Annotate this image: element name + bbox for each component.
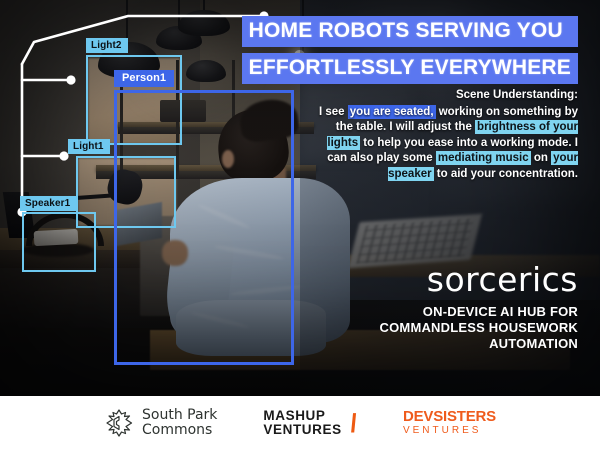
scene-text-seg-4: on [531, 152, 551, 164]
scene-understanding-panel: Scene Understanding: I see you are seate… [310, 88, 578, 182]
brand-name: sorcerics [380, 262, 578, 298]
brand-tagline-line-3: AUTOMATION [380, 336, 578, 352]
mashup-line-1: MASHUP [263, 409, 341, 423]
scene-understanding-title: Scene Understanding: [310, 88, 578, 104]
sponsor-mashup-ventures-name: MASHUP VENTURES [263, 409, 341, 437]
scene-text-seg-5: to aid your concentration. [434, 168, 578, 180]
detection-label-speaker1[interactable]: Speaker1 [20, 196, 76, 211]
devsisters-line-1: DEVSISTERS [403, 409, 496, 425]
sponsor-south-park-commons[interactable]: South Park Commons [104, 408, 217, 438]
brand-block: sorcerics ON-DEVICE AI HUB FOR COMMANDLE… [380, 262, 578, 352]
sponsor-south-park-commons-name: South Park Commons [142, 408, 217, 438]
scene-highlight-seated: you are seated, [348, 105, 436, 119]
scene-text-seg-1: I see [319, 106, 348, 118]
detection-label-light2[interactable]: Light2 [86, 38, 128, 53]
brand-tagline: ON-DEVICE AI HUB FOR COMMANDLESS HOUSEWO… [380, 304, 578, 352]
orange-slash-icon: \ [347, 412, 361, 434]
headline: HOME ROBOTS SERVING YOU EFFORTLESSLY EVE… [242, 16, 578, 84]
headline-line-1: HOME ROBOTS SERVING YOU [242, 16, 578, 47]
detection-label-person1[interactable]: Person1 [114, 70, 174, 87]
sponsor-devsisters-ventures-name: DEVSISTERS VENTURES [403, 409, 496, 437]
mashup-line-2: VENTURES [263, 423, 341, 437]
poster: Light2 Light1 Speaker1 Person1 HOME ROBO… [0, 0, 600, 450]
sponsor-footer: South Park Commons MASHUP VENTURES \ DEV… [0, 396, 600, 450]
spc-line-2: Commons [142, 423, 217, 438]
scene-highlight-music: mediating music [436, 151, 531, 165]
spc-line-1: South Park [142, 408, 217, 423]
headline-line-2: EFFORTLESSLY EVERYWHERE [242, 53, 578, 84]
brand-tagline-line-1: ON-DEVICE AI HUB FOR [380, 304, 578, 320]
detection-label-light1[interactable]: Light1 [68, 139, 110, 154]
graph-node-light2 [66, 75, 75, 84]
brand-tagline-line-2: COMMANDLESS HOUSEWORK [380, 320, 578, 336]
sponsor-mashup-ventures[interactable]: MASHUP VENTURES \ [263, 409, 357, 437]
angular-star-c-icon [104, 408, 134, 438]
detection-box-speaker1[interactable] [22, 212, 96, 272]
detection-box-person1[interactable] [114, 90, 294, 365]
sponsor-devsisters-ventures[interactable]: DEVSISTERS VENTURES [403, 409, 496, 437]
devsisters-line-2: VENTURES [403, 425, 496, 437]
